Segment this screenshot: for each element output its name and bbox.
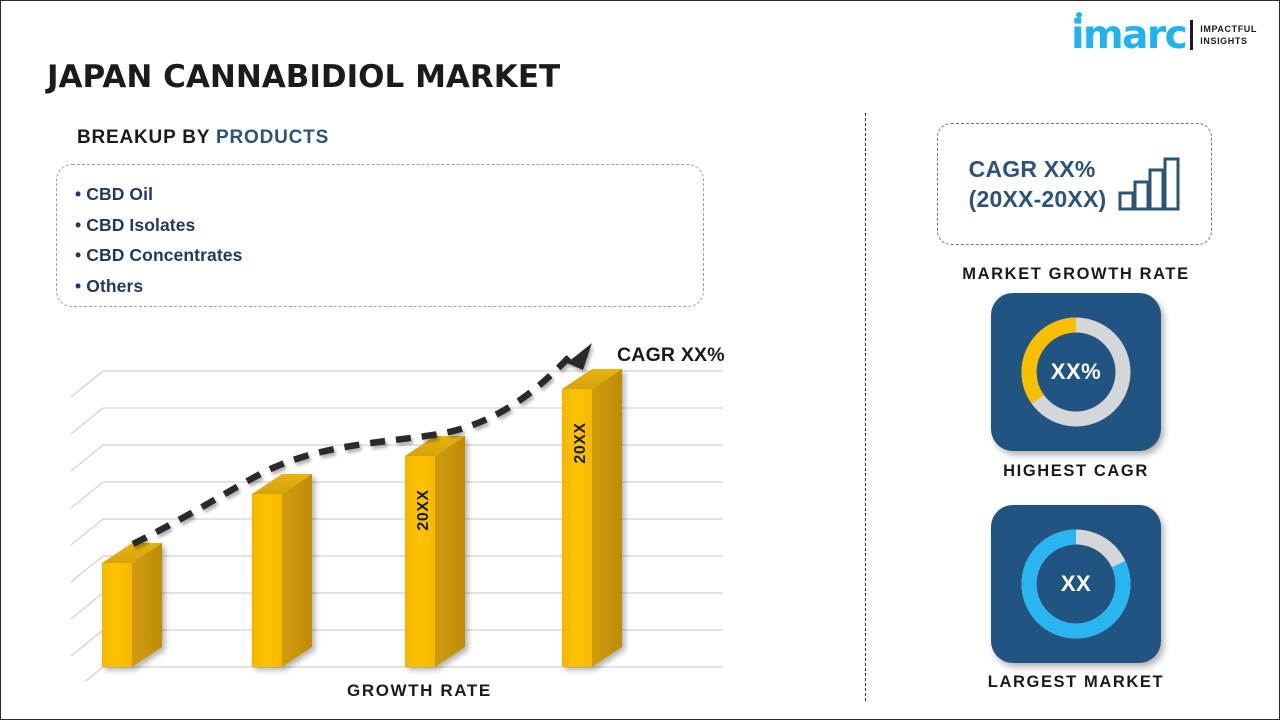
products-list-box: •CBD Oil •CBD Isolates •CBD Concentrates… bbox=[56, 164, 704, 307]
cagr-value-text: CAGR XX% (20XX-20XX) bbox=[969, 154, 1107, 214]
largest-market-value: XX bbox=[991, 505, 1161, 663]
market-growth-rate-box: CAGR XX% (20XX-20XX) bbox=[937, 123, 1212, 245]
section-divider bbox=[865, 113, 866, 701]
largest-market-caption: LARGEST MARKET bbox=[881, 673, 1271, 692]
highest-cagr-card: XX% bbox=[991, 293, 1161, 451]
logo-divider bbox=[1190, 20, 1193, 50]
list-item: •CBD Concentrates bbox=[75, 240, 703, 271]
highest-cagr-value: XX% bbox=[991, 293, 1161, 451]
page-title: JAPAN CANNABIDIOL MARKET bbox=[47, 59, 560, 95]
infographic-slide: imarc IMPACTFUL INSIGHTS JAPAN CANNABIDI… bbox=[0, 0, 1280, 720]
bar-3-value: 20XX bbox=[415, 480, 433, 540]
bullet-icon: • bbox=[75, 215, 81, 235]
list-item: •CBD Isolates bbox=[75, 210, 703, 241]
logo-wordmark: imarc bbox=[1071, 16, 1186, 55]
market-growth-rate-caption: MARKET GROWTH RATE bbox=[881, 265, 1271, 284]
bar-1 bbox=[102, 543, 162, 667]
highest-cagr-caption: HIGHEST CAGR bbox=[881, 462, 1271, 481]
logo-tagline-line2: INSIGHTS bbox=[1200, 35, 1257, 47]
imarc-logo: imarc IMPACTFUL INSIGHTS bbox=[1071, 15, 1257, 55]
bar-3 bbox=[405, 436, 465, 667]
cagr-line-1: CAGR XX% bbox=[969, 154, 1107, 184]
breakup-heading-prefix: BREAKUP BY bbox=[77, 127, 216, 148]
list-item: •Others bbox=[75, 271, 703, 302]
bar-2 bbox=[252, 474, 312, 667]
bar-4-value: 20XX bbox=[572, 413, 590, 473]
largest-market-card: XX bbox=[991, 505, 1161, 663]
product-label: CBD Isolates bbox=[86, 215, 195, 235]
trend-line bbox=[133, 343, 592, 544]
product-label: Others bbox=[86, 276, 143, 296]
bullet-icon: • bbox=[75, 184, 81, 204]
cagr-callout-label: CAGR XX% bbox=[617, 344, 725, 367]
logo-tagline-line1: IMPACTFUL bbox=[1200, 23, 1257, 35]
bullet-icon: • bbox=[75, 276, 81, 296]
cagr-line-2: (20XX-20XX) bbox=[969, 184, 1107, 214]
bar-chart-icon bbox=[1118, 157, 1180, 211]
breakup-heading: BREAKUP BY PRODUCTS bbox=[77, 127, 329, 149]
growth-rate-chart: 20XX 20XX CAGR XX% GROWTH RATE bbox=[47, 331, 807, 711]
product-label: CBD Oil bbox=[86, 184, 153, 204]
bullet-icon: • bbox=[75, 245, 81, 265]
product-label: CBD Concentrates bbox=[86, 245, 242, 265]
bar-4 bbox=[562, 369, 622, 667]
logo-tagline: IMPACTFUL INSIGHTS bbox=[1200, 23, 1257, 47]
breakup-heading-highlight: PRODUCTS bbox=[216, 127, 329, 148]
list-item: •CBD Oil bbox=[75, 179, 703, 210]
trend-arrow-icon bbox=[567, 343, 592, 370]
chart-x-axis-label: GROWTH RATE bbox=[347, 681, 492, 701]
